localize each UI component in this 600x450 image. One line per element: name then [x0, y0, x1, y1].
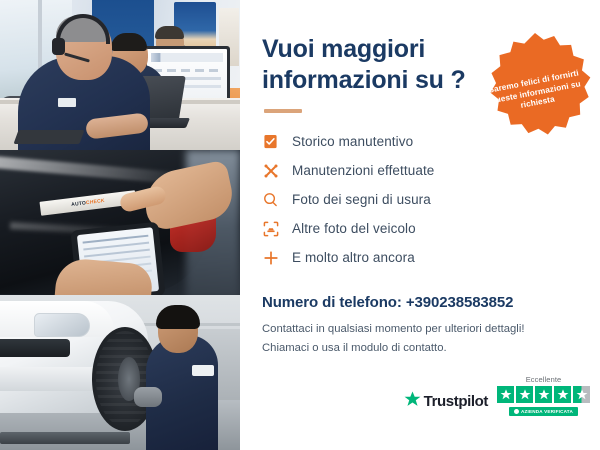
promo-banner: AUTOCHECK Vuoi [0, 0, 600, 450]
list-item-label: Storico manutentivo [292, 134, 413, 149]
list-item-label: Altre foto del veicolo [292, 221, 416, 236]
badge-text: Saremo felici di fornirti queste informa… [488, 68, 585, 117]
list-item-foto-segni-usura: Foto dei segni di usura [262, 185, 578, 214]
trustpilot-stars [497, 386, 590, 403]
contact-instructions-line-1: Contattaci in qualsiasi momento per ulte… [262, 320, 578, 339]
title-underline-rule [264, 109, 302, 113]
list-item-molto-altro-ancora: E molto altro ancora [262, 243, 578, 272]
check-circle-icon [514, 409, 519, 414]
photo-column: AUTOCHECK [0, 0, 240, 450]
phone-number-line[interactable]: Numero di telefono: +390238583852 [262, 294, 578, 311]
list-item-label: E molto altro ancora [292, 250, 415, 265]
list-item-altre-foto-veicolo: Altre foto del veicolo [262, 214, 578, 243]
star-half-icon [573, 386, 590, 403]
verified-company-label: AZIENDA VERIFICATA [521, 409, 573, 414]
verified-company-badge: AZIENDA VERIFICATA [509, 407, 578, 416]
trustpilot-logo: Trustpilot [404, 391, 488, 416]
magnifier-icon [262, 191, 279, 208]
scan-car-icon [262, 220, 279, 237]
star-icon [554, 386, 571, 403]
trustpilot-widget[interactable]: Trustpilot Eccellente [404, 375, 590, 416]
vehicle-inspection-photo: AUTOCHECK [0, 150, 240, 295]
list-item-manutenzioni-effettuate: Manutenzioni effettuate [262, 156, 578, 185]
phone-block: Numero di telefono: +390238583852 Contat… [262, 294, 578, 357]
contact-instructions-line-2: Chiamaci o usa il modulo di contatto. [262, 339, 578, 358]
status-badge: Saremo felici di fornirti queste informa… [476, 30, 594, 148]
call-centre-agents-photo [0, 0, 240, 150]
list-item-label: Foto dei segni di usura [292, 192, 431, 207]
trustpilot-rating: Eccellente [497, 375, 590, 416]
star-icon [535, 386, 552, 403]
list-item-label: Manutenzioni effettuate [292, 163, 434, 178]
trustpilot-brand-name: Trustpilot [424, 393, 488, 410]
tools-cross-icon [262, 162, 279, 179]
star-icon [497, 386, 514, 403]
trustpilot-rating-word: Eccellente [526, 375, 562, 384]
page-title: Vuoi maggiori informazioni su ? [262, 34, 477, 95]
trustpilot-star-icon [404, 391, 421, 412]
car-on-lift-mechanic-photo [0, 295, 240, 450]
clipboard-check-icon [262, 133, 279, 150]
content-panel: Vuoi maggiori informazioni su ? Storico … [240, 0, 600, 450]
contact-instructions: Contattaci in qualsiasi momento per ulte… [262, 320, 578, 357]
plus-icon [262, 249, 279, 266]
star-icon [516, 386, 533, 403]
